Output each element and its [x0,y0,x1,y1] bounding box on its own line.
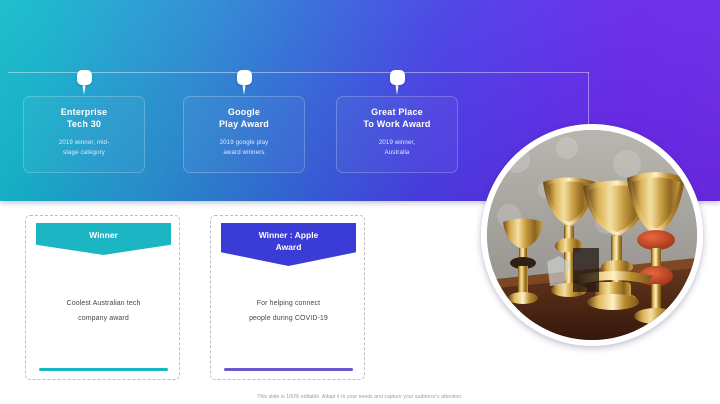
location-pin-icon [237,70,252,96]
footer-note: This slide is 100% editable. Adapt it to… [0,394,720,400]
winner-card-body: For helping connect people during COVID-… [225,296,352,326]
ribbon-line1: Winner [36,229,171,241]
award-title-line2: To Work Award [337,118,457,130]
ribbon-banner: Winner [36,223,171,255]
winner-body-line1: Coolest Australian tech [40,296,167,311]
award-title-line1: Enterprise [24,106,144,118]
pin-head [237,70,252,85]
ribbon-line1: Winner : Apple [221,229,356,241]
ribbon-line2: Award [221,241,356,253]
slide-canvas: Awards and accolades This slide highligh… [0,0,720,404]
trophies-illustration [487,130,697,340]
winner-body-line2: people during COVID-19 [225,311,352,326]
winner-body-line1: For helping connect [225,296,352,311]
award-card-google-play-award[interactable]: Google Play Award 2019 google play award… [183,96,305,173]
winner-body-line2: company award [40,311,167,326]
location-pin-icon [77,70,92,96]
connector-line-horizontal [8,72,589,73]
winner-card-coolest-australian-tech[interactable]: Winner Coolest Australian tech company a… [25,215,180,380]
location-pin-icon [390,70,405,96]
award-desc-line2: award winners [184,148,304,158]
award-desc-line1: 2019 winner, mid- [24,138,144,148]
award-description: 2019 google play award winners [184,138,304,157]
award-desc-line2: stage category [24,148,144,158]
award-title: Great Place To Work Award [337,106,457,130]
winner-card-accent-bar [39,368,168,372]
pin-head [77,70,92,85]
award-desc-line2: Australia [337,148,457,158]
award-card-great-place-to-work[interactable]: Great Place To Work Award 2019 winner, A… [336,96,458,173]
award-title: Google Play Award [184,106,304,130]
award-description: 2019 winner, mid- stage category [24,138,144,157]
award-title: Enterprise Tech 30 [24,106,144,130]
award-title-line1: Great Place [337,106,457,118]
award-title-line2: Tech 30 [24,118,144,130]
pin-head [390,70,405,85]
winner-card-apple-award[interactable]: Winner : Apple Award For helping connect… [210,215,365,380]
award-description: 2019 winner, Australia [337,138,457,157]
award-title-line1: Google [184,106,304,118]
award-desc-line1: 2019 winner, [337,138,457,148]
winner-card-accent-bar [224,368,353,372]
award-title-line2: Play Award [184,118,304,130]
trophy-photo-circle [481,124,703,346]
ribbon-banner: Winner : Apple Award [221,223,356,266]
trophy-photo [487,130,697,340]
award-desc-line1: 2019 google play [184,138,304,148]
connector-line-vertical [588,72,589,130]
winner-card-body: Coolest Australian tech company award [40,296,167,326]
award-card-enterprise-tech-30[interactable]: Enterprise Tech 30 2019 winner, mid- sta… [23,96,145,173]
